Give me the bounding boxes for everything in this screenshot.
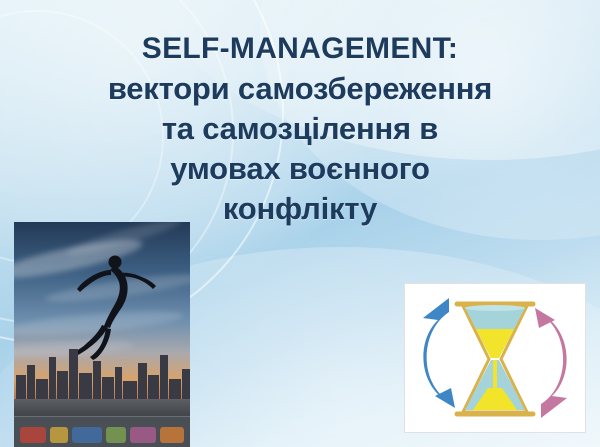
title-line-2: вектори самозбереження (40, 69, 560, 109)
title-line-1: SELF-MANAGEMENT: (40, 30, 560, 69)
photo-skyline (14, 339, 190, 401)
photo-wall (14, 416, 190, 447)
diver-city-photo (14, 222, 190, 447)
title-line-3: та самозцілення в (40, 109, 560, 149)
slide: SELF-MANAGEMENT: вектори самозбереження … (0, 0, 600, 447)
hourglass-cycle-graphic (404, 283, 586, 433)
slide-title: SELF-MANAGEMENT: вектори самозбереження … (40, 30, 560, 229)
title-line-4: умовах воєнного (40, 149, 560, 189)
hourglass-cycle-icon (405, 284, 585, 432)
